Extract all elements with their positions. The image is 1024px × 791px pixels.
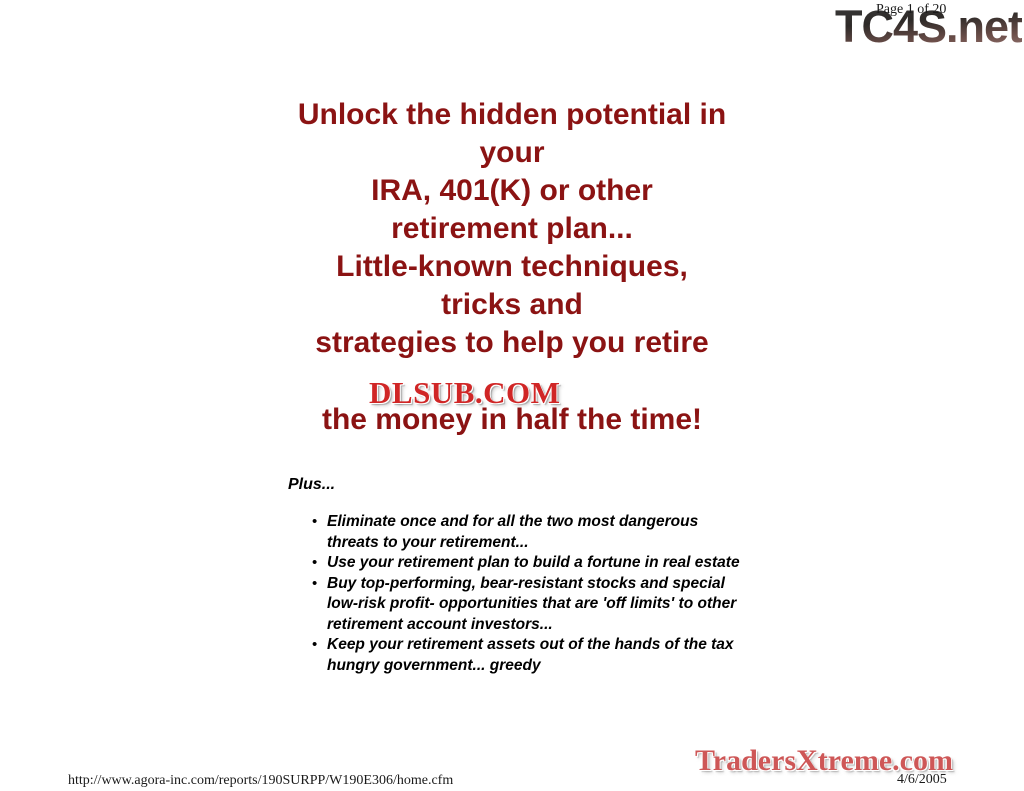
bullet-point-icon: •: [312, 512, 317, 533]
footer-date-label: 4/6/2005: [897, 772, 947, 788]
headline-line-3: IRA, 401(K) or other: [180, 172, 844, 210]
headline-line-2: your: [180, 134, 844, 172]
list-item: • Keep your retirement assets out of the…: [310, 635, 740, 676]
plus-label: Plus...: [288, 476, 335, 494]
bullet-point-icon: •: [312, 574, 317, 595]
headline-line-5: Little-known techniques,: [180, 248, 844, 286]
list-item-text: Buy top-performing, bear-resistant stock…: [327, 574, 740, 636]
list-item-text: Use your retirement plan to build a fort…: [327, 553, 740, 574]
headline-line-7: strategies to help you retire: [180, 324, 844, 362]
headline-line-4: retirement plan...: [180, 210, 844, 248]
page-number-label: Page 1 of 20: [876, 2, 946, 18]
slide-page: { "header": { "page_number": "Page 1 of …: [0, 0, 1024, 791]
list-item: • Use your retirement plan to build a fo…: [310, 553, 740, 574]
bullet-point-icon: •: [312, 553, 317, 574]
dlsub-watermark-logo: DLSUB.COM: [369, 376, 560, 410]
headline-line-1: Unlock the hidden potential in: [180, 96, 844, 134]
list-item-text: Keep your retirement assets out of the h…: [327, 635, 740, 676]
bullet-point-icon: •: [312, 635, 317, 656]
list-item: • Eliminate once and for all the two mos…: [310, 512, 740, 553]
source-url-label: http://www.agora-inc.com/reports/190SURP…: [68, 773, 453, 789]
list-item-text: Eliminate once and for all the two most …: [327, 512, 740, 553]
headline-line-6: tricks and: [180, 286, 844, 324]
list-item: • Buy top-performing, bear-resistant sto…: [310, 574, 740, 636]
benefits-bullet-list: • Eliminate once and for all the two mos…: [310, 512, 740, 676]
